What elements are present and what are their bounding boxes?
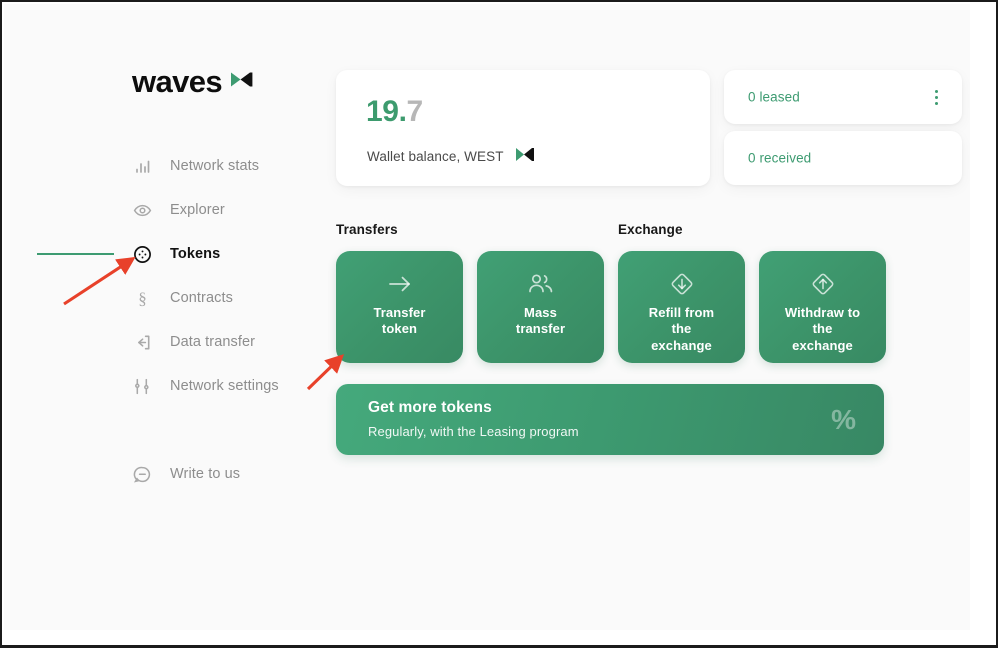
kebab-menu-icon[interactable] xyxy=(928,88,944,106)
section-sign-icon: § xyxy=(132,288,152,308)
sidebar-item-label: Explorer xyxy=(170,202,225,218)
get-more-tokens-banner[interactable]: Get more tokens Regularly, with the Leas… xyxy=(336,384,884,455)
main-content: 19.7 Wallet balance, WEST 0 leased xyxy=(334,4,970,630)
wallet-balance-amount: 19.7 xyxy=(366,97,423,127)
app-viewport: waves xyxy=(4,4,970,630)
west-token-icon xyxy=(516,147,534,165)
diamond-arrow-down-icon xyxy=(668,269,696,299)
sidebar-item-network-settings[interactable]: Network settings xyxy=(4,364,334,408)
sidebar-item-data-transfer[interactable]: Data transfer xyxy=(4,320,334,364)
wallet-balance-card: 19.7 Wallet balance, WEST xyxy=(336,70,710,186)
sidebar-item-label: Contracts xyxy=(170,290,233,306)
brand-logo[interactable]: waves xyxy=(132,66,253,97)
sidebar-item-explorer[interactable]: Explorer xyxy=(4,188,334,232)
transfers-section-title: Transfers xyxy=(336,222,398,237)
sidebar-item-label: Network settings xyxy=(170,378,279,394)
sidebar-nav: Network stats Explorer xyxy=(4,144,334,496)
diamond-arrow-up-icon xyxy=(809,269,837,299)
balance-decimal-part: 7 xyxy=(407,95,423,128)
waves-logo-mark-icon xyxy=(231,71,253,93)
received-amount-label: 0 received xyxy=(748,151,811,166)
chat-bubble-icon xyxy=(132,464,152,484)
withdraw-to-exchange-tile[interactable]: Withdraw to the exchange xyxy=(759,251,886,363)
data-transfer-icon xyxy=(132,332,152,352)
tile-label: Mass transfer xyxy=(516,305,565,338)
sidebar-item-tokens[interactable]: Tokens xyxy=(4,232,334,276)
brand-wordmark: waves xyxy=(132,66,222,97)
nav-gap-spacer xyxy=(4,408,334,452)
two-people-icon xyxy=(526,269,556,299)
wallet-balance-caption: Wallet balance, WEST xyxy=(367,149,504,164)
sidebar: waves xyxy=(4,4,334,630)
token-circle-icon xyxy=(132,244,152,264)
sidebar-item-label: Write to us xyxy=(170,466,240,482)
eye-icon xyxy=(132,200,152,220)
tile-label: Withdraw to the exchange xyxy=(785,305,860,354)
sliders-icon xyxy=(132,376,152,396)
tile-label: Refill from the exchange xyxy=(649,305,714,354)
sidebar-item-network-stats[interactable]: Network stats xyxy=(4,144,334,188)
transfer-token-tile[interactable]: Transfer token xyxy=(336,251,463,363)
percent-icon: % xyxy=(831,406,856,434)
svg-text:§: § xyxy=(138,289,147,308)
active-nav-indicator xyxy=(37,253,114,255)
received-card[interactable]: 0 received xyxy=(724,131,962,185)
browser-window-frame: waves xyxy=(0,0,998,648)
banner-subtitle: Regularly, with the Leasing program xyxy=(368,424,579,439)
leased-card[interactable]: 0 leased xyxy=(724,70,962,124)
bar-chart-icon xyxy=(132,156,152,176)
sidebar-item-write-to-us[interactable]: Write to us xyxy=(4,452,334,496)
tile-label: Transfer token xyxy=(373,305,425,338)
sidebar-item-label: Data transfer xyxy=(170,334,255,350)
arrow-right-icon xyxy=(385,269,415,299)
wallet-balance-caption-row: Wallet balance, WEST xyxy=(367,147,534,165)
refill-from-exchange-tile[interactable]: Refill from the exchange xyxy=(618,251,745,363)
balance-integer-part: 19. xyxy=(366,95,407,128)
banner-title: Get more tokens xyxy=(368,399,492,417)
sidebar-item-contracts[interactable]: § Contracts xyxy=(4,276,334,320)
sidebar-item-label: Network stats xyxy=(170,158,259,174)
leased-amount-label: 0 leased xyxy=(748,90,800,105)
exchange-section-title: Exchange xyxy=(618,222,683,237)
mass-transfer-tile[interactable]: Mass transfer xyxy=(477,251,604,363)
sidebar-item-label: Tokens xyxy=(170,246,220,262)
